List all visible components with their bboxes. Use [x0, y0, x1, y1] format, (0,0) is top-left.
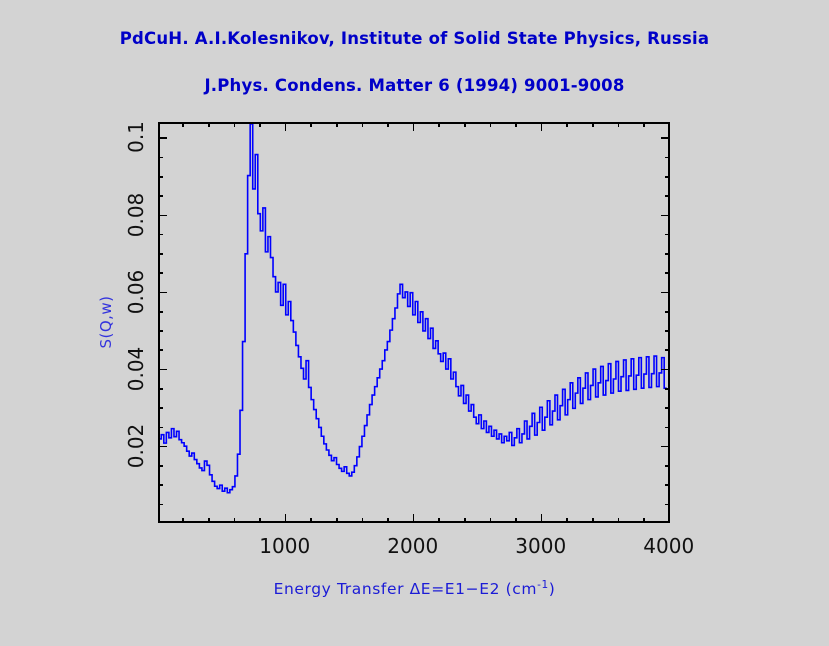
x-axis-title-exponent: -1 [537, 579, 549, 591]
y-tick-label: 0.02 [124, 414, 148, 478]
y-minor-tick [158, 349, 163, 351]
y-minor-tick [158, 465, 163, 467]
y-minor-tick-right [665, 388, 670, 390]
y-minor-tick [158, 157, 163, 159]
figure-title-main: PdCuH. A.I.Kolesnikov, Institute of Soli… [0, 29, 829, 48]
x-tick-label: 4000 [614, 534, 724, 558]
x-minor-tick-top [310, 122, 312, 127]
figure-title-subtitle: J.Phys. Condens. Matter 6 (1994) 9001-90… [0, 76, 829, 95]
x-minor-tick-top [618, 122, 620, 127]
x-minor-tick [234, 518, 236, 523]
y-minor-tick-right [665, 484, 670, 486]
x-minor-tick [566, 518, 568, 523]
x-minor-tick-top [208, 122, 210, 127]
y-tick-label: 0.08 [124, 183, 148, 247]
x-minor-tick [490, 518, 492, 523]
x-minor-tick [438, 518, 440, 523]
x-major-tick-top [285, 122, 287, 131]
x-minor-tick-top [234, 122, 236, 127]
x-minor-tick [259, 518, 261, 523]
y-major-tick-right [661, 446, 670, 448]
y-minor-tick [158, 427, 163, 429]
x-minor-tick-top [362, 122, 364, 127]
x-major-tick [285, 514, 287, 523]
x-major-tick-top [413, 122, 415, 131]
x-tick-label: 1000 [230, 534, 340, 558]
x-minor-tick [464, 518, 466, 523]
y-major-tick [158, 215, 167, 217]
y-minor-tick-right [665, 349, 670, 351]
y-minor-tick-right [665, 311, 670, 313]
spectrum-curve [160, 124, 668, 521]
y-major-tick [158, 369, 167, 371]
y-minor-tick-right [665, 195, 670, 197]
y-minor-tick [158, 330, 163, 332]
y-major-tick-right [661, 137, 670, 139]
y-minor-tick [158, 176, 163, 178]
figure-canvas: PdCuH. A.I.Kolesnikov, Institute of Soli… [0, 0, 829, 646]
y-axis-title: S(Q,w) [97, 282, 115, 362]
x-minor-tick-top [387, 122, 389, 127]
y-major-tick-right [661, 215, 670, 217]
x-minor-tick-top [259, 122, 261, 127]
plot-area [158, 122, 670, 523]
y-minor-tick-right [665, 427, 670, 429]
y-minor-tick [158, 407, 163, 409]
x-minor-tick-top [438, 122, 440, 127]
y-minor-tick-right [665, 504, 670, 506]
x-minor-tick [387, 518, 389, 523]
y-major-tick-right [661, 292, 670, 294]
x-minor-tick-top [643, 122, 645, 127]
y-minor-tick [158, 272, 163, 274]
x-minor-tick [592, 518, 594, 523]
x-axis-title-prefix: Energy Transfer ΔE=E1−E2 (cm [274, 580, 538, 598]
x-minor-tick [182, 518, 184, 523]
y-minor-tick [158, 195, 163, 197]
x-major-tick [413, 514, 415, 523]
y-minor-tick-right [665, 330, 670, 332]
x-major-tick [669, 514, 671, 523]
y-major-tick [158, 292, 167, 294]
x-minor-tick [208, 518, 210, 523]
x-axis-title: Energy Transfer ΔE=E1−E2 (cm-1) [0, 579, 829, 598]
y-major-tick [158, 137, 167, 139]
y-minor-tick [158, 311, 163, 313]
y-minor-tick-right [665, 253, 670, 255]
y-minor-tick [158, 253, 163, 255]
x-axis-title-suffix: ) [549, 580, 556, 598]
y-minor-tick-right [665, 465, 670, 467]
x-minor-tick-top [464, 122, 466, 127]
x-minor-tick-top [592, 122, 594, 127]
y-minor-tick [158, 234, 163, 236]
y-minor-tick [158, 484, 163, 486]
x-minor-tick [515, 518, 517, 523]
y-minor-tick-right [665, 272, 670, 274]
y-tick-label: 0.04 [124, 337, 148, 401]
x-tick-label: 2000 [358, 534, 468, 558]
y-major-tick [158, 446, 167, 448]
y-minor-tick-right [665, 234, 670, 236]
x-tick-label: 3000 [486, 534, 596, 558]
y-minor-tick-right [665, 407, 670, 409]
x-major-tick-top [541, 122, 543, 131]
x-minor-tick-top [515, 122, 517, 127]
x-minor-tick [643, 518, 645, 523]
x-major-tick [541, 514, 543, 523]
x-minor-tick-top [566, 122, 568, 127]
y-minor-tick-right [665, 157, 670, 159]
x-minor-tick [618, 518, 620, 523]
x-minor-tick [336, 518, 338, 523]
x-minor-tick-top [336, 122, 338, 127]
x-minor-tick [310, 518, 312, 523]
y-tick-label: 0.06 [124, 260, 148, 324]
x-minor-tick [362, 518, 364, 523]
y-minor-tick [158, 388, 163, 390]
x-minor-tick-top [182, 122, 184, 127]
x-major-tick-top [669, 122, 671, 131]
x-minor-tick-top [490, 122, 492, 127]
y-minor-tick-right [665, 176, 670, 178]
y-minor-tick [158, 504, 163, 506]
y-tick-label: 0.1 [124, 105, 148, 169]
y-major-tick-right [661, 369, 670, 371]
